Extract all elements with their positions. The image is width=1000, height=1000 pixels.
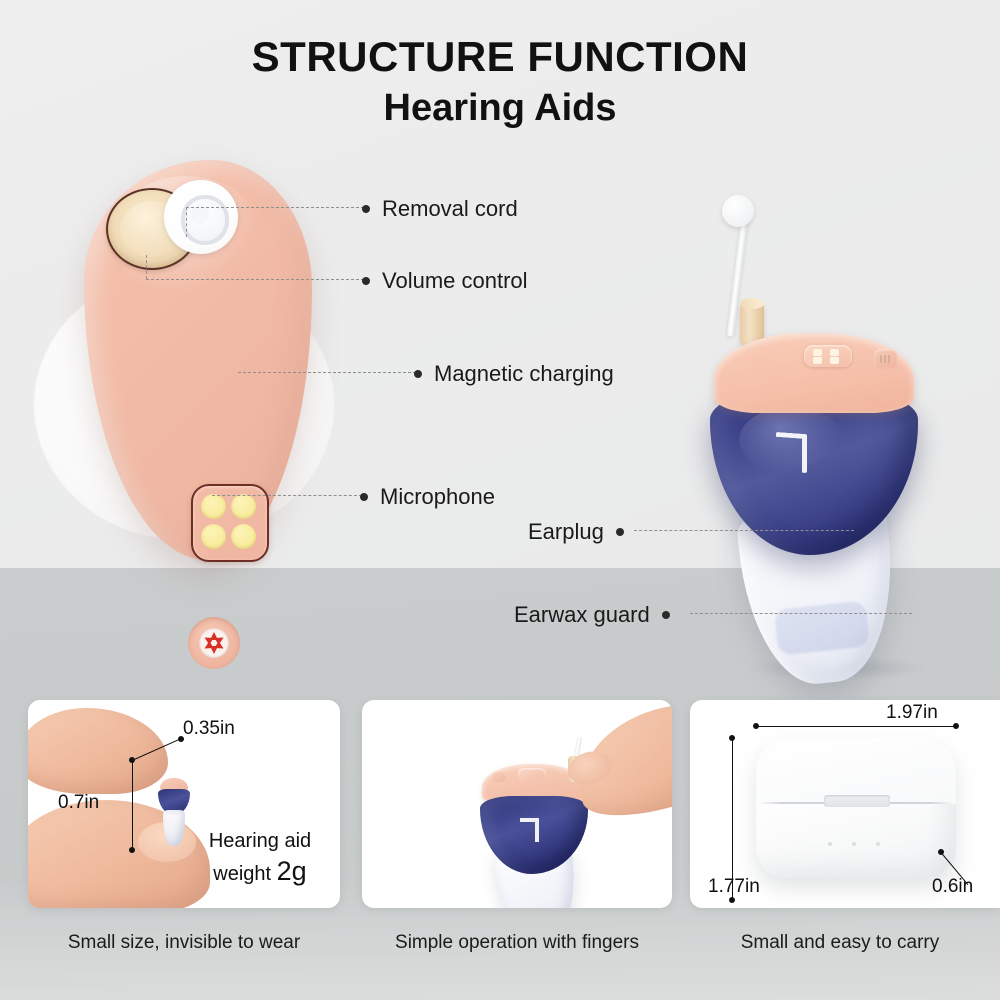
leader-tick-removal-cord	[186, 207, 187, 237]
leader-line-microphone	[212, 495, 362, 496]
panel-caption-case: Small and easy to carry	[690, 932, 990, 954]
panel-caption-operation: Simple operation with fingers	[362, 932, 672, 954]
contact-pad	[231, 494, 256, 519]
contact-pad	[201, 494, 226, 519]
removal-cord-loop	[164, 180, 238, 254]
dimension-endpoint	[953, 723, 959, 729]
leader-line-earwax-guard	[690, 613, 912, 614]
dimension-endpoint	[129, 757, 135, 763]
callout-dot-icon	[360, 493, 368, 501]
contact-pad	[231, 524, 256, 549]
hearing-aid-top-shell	[714, 333, 914, 413]
dimension-endpoint	[729, 735, 735, 741]
earplug-dome	[163, 810, 185, 846]
dimension-label-case-depth: 0.6in	[932, 876, 973, 898]
brand-logo-mark	[520, 818, 539, 842]
case-open-notch	[824, 795, 890, 807]
callout-microphone: Microphone	[360, 484, 495, 510]
removal-cord-ball	[722, 195, 754, 227]
dimension-label-case-height: 1.77in	[708, 876, 760, 898]
dimension-line-height	[132, 762, 133, 850]
contact-pad	[813, 357, 822, 364]
dimension-label-case-width: 1.97in	[886, 702, 938, 724]
callout-label: Earplug	[528, 519, 604, 545]
dimension-line-case-width	[756, 726, 956, 727]
callout-earwax-guard: Earwax guard	[514, 602, 670, 628]
callout-label: Earwax guard	[514, 602, 650, 628]
dimension-endpoint	[753, 723, 759, 729]
leader-line-volume-control	[146, 279, 364, 280]
magnetic-charging-pad	[804, 345, 852, 367]
panel-operation	[362, 700, 672, 908]
dimension-endpoint	[129, 847, 135, 853]
microphone-port	[188, 617, 240, 669]
callout-magnetic-charging: Magnetic charging	[414, 361, 614, 387]
dimension-label-width: 0.35in	[183, 718, 235, 740]
product-angled-view	[690, 185, 950, 625]
product-top-view	[28, 150, 358, 570]
callout-dot-icon	[414, 370, 422, 378]
hearing-aid-miniature	[156, 778, 192, 850]
led-indicator	[852, 842, 856, 846]
callout-label: Magnetic charging	[434, 361, 614, 387]
title-line-1: STRUCTURE FUNCTION	[0, 32, 1000, 82]
finger-thumb	[28, 708, 168, 794]
title-line-2: Hearing Aids	[0, 84, 1000, 132]
microphone-port	[874, 349, 898, 369]
secondary-button	[492, 772, 506, 782]
earwax-guard	[774, 600, 870, 655]
callout-dot-icon	[662, 611, 670, 619]
leader-line-earplug	[634, 530, 854, 531]
brand-logo-mark	[776, 432, 807, 473]
leader-line-magnetic-charging	[238, 372, 416, 373]
led-indicator	[876, 842, 880, 846]
charging-case	[756, 738, 956, 878]
callout-label: Volume control	[382, 268, 528, 294]
callout-volume-control: Volume control	[362, 268, 528, 294]
callout-dot-icon	[616, 528, 624, 536]
contact-pad	[830, 349, 839, 356]
led-indicator	[828, 842, 832, 846]
contact-pad	[813, 349, 822, 356]
leader-line-removal-cord	[186, 207, 364, 208]
dimension-endpoint	[938, 849, 944, 855]
contact-pad	[201, 524, 226, 549]
contact-pad	[830, 357, 839, 364]
microphone-grille	[199, 628, 229, 658]
page-title: STRUCTURE FUNCTION Hearing Aids	[0, 32, 1000, 132]
dimension-label-height: 0.7in	[58, 792, 99, 814]
control-button	[518, 768, 546, 780]
weight-prefix: weight	[213, 863, 271, 885]
leader-tick-volume-control	[146, 255, 147, 279]
panel-size: 0.35in 0.7in Hearing aid weight 2g	[28, 700, 340, 908]
callout-dot-icon	[362, 277, 370, 285]
weight-value-row: weight 2g	[194, 856, 326, 889]
callout-label: Microphone	[380, 484, 495, 510]
callout-label: Removal cord	[382, 196, 518, 222]
weight-info: Hearing aid weight 2g	[194, 826, 326, 889]
panel-case: 1.97in 1.77in 0.6in	[690, 700, 1000, 908]
callout-removal-cord: Removal cord	[362, 196, 518, 222]
panel-caption-size: Small size, invisible to wear	[28, 932, 340, 954]
weight-value: 2g	[277, 856, 307, 886]
callout-dot-icon	[362, 205, 370, 213]
infographic-stage: STRUCTURE FUNCTION Hearing Aids	[0, 0, 1000, 1000]
weight-title: Hearing aid	[194, 826, 326, 856]
callout-earplug: Earplug	[528, 519, 624, 545]
